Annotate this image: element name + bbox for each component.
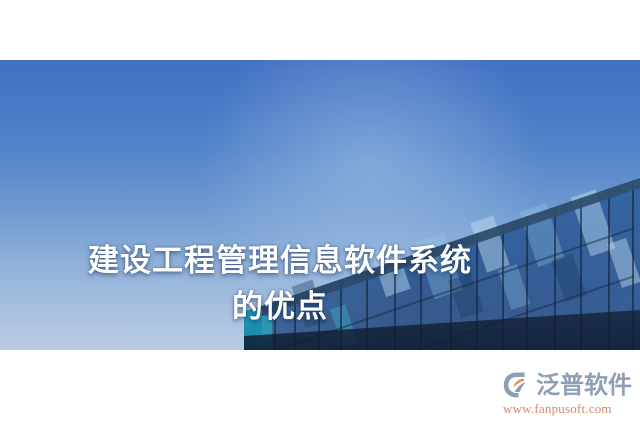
watermark-brand-name: 泛普软件 [536, 371, 632, 399]
watermark-row: 泛普软件 [502, 370, 634, 400]
banner-title-line-1: 建设工程管理信息软件系统 [0, 238, 560, 284]
fanpu-watermark: 泛普软件 www.fanpusoft.com [502, 370, 634, 416]
banner-title: 建设工程管理信息软件系统 的优点 [0, 238, 560, 330]
watermark-url: www.fanpusoft.com [502, 401, 634, 417]
page-root: 建设工程管理信息软件系统 的优点 泛普软件 www.fanpusoft.com [0, 0, 640, 427]
article-hero-banner: 建设工程管理信息软件系统 的优点 [0, 60, 640, 350]
fanpu-logo-icon [502, 371, 532, 399]
banner-title-line-2: 的优点 [0, 284, 560, 330]
